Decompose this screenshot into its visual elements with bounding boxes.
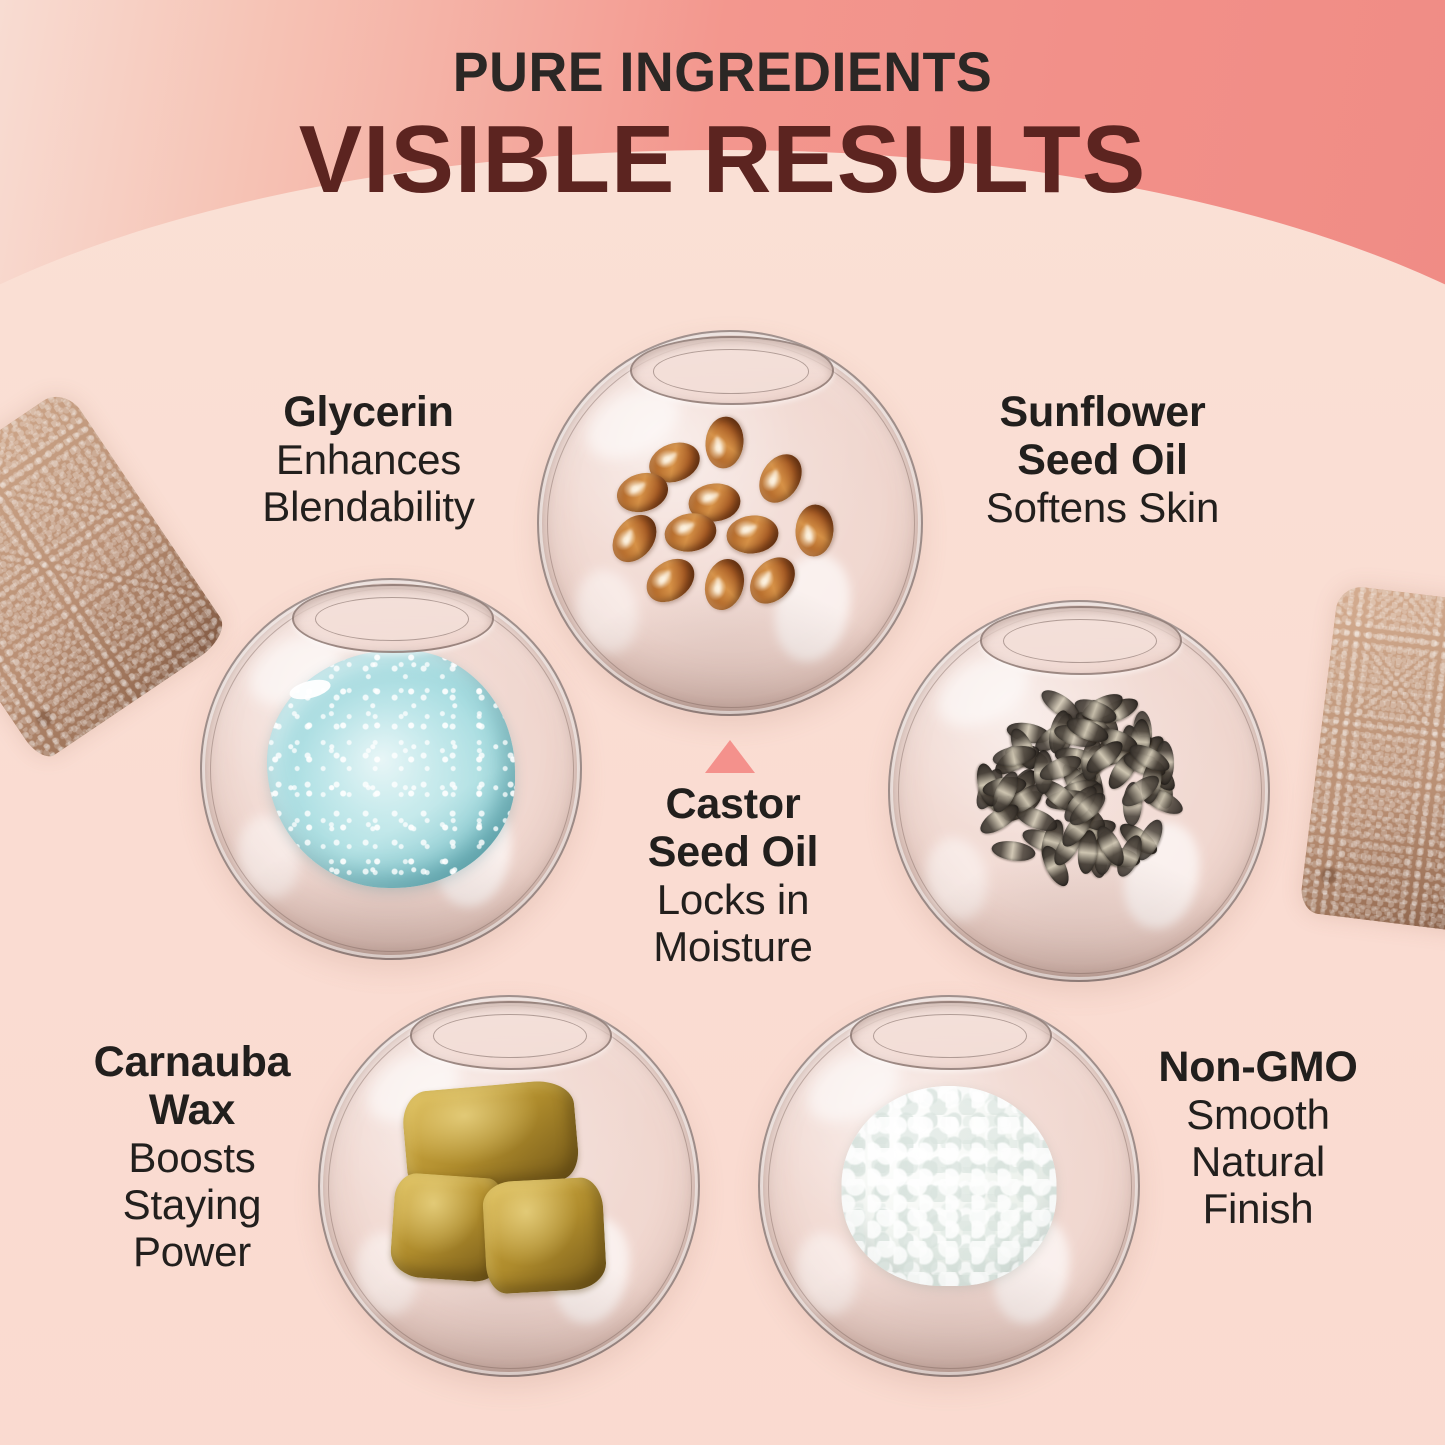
castor-seeds-visual: [623, 426, 838, 621]
label-castor-name-line-2: Seed Oil: [578, 828, 888, 876]
headline-line-1: PURE INGREDIENTS: [29, 44, 1416, 100]
ingredient-sphere-non-gmo: [758, 995, 1140, 1377]
label-carnauba-benefit-line-1: Boosts: [42, 1134, 342, 1181]
ingredient-sphere-sunflower-seed-oil: [888, 600, 1270, 982]
label-carnauba-name-line-2: Wax: [42, 1086, 342, 1134]
ingredient-sphere-castor-seed-oil: [537, 330, 923, 716]
white-powder-visual: [842, 1086, 1057, 1286]
label-sunflower-name-line-2: Seed Oil: [930, 436, 1275, 484]
label-castor-benefit-line-2: Moisture: [578, 923, 888, 970]
sunflower-seeds-visual: [962, 684, 1197, 899]
ingredient-sphere-carnauba-wax: [318, 995, 700, 1377]
label-carnauba-wax: Carnauba Wax Boosts Staying Power: [42, 1038, 342, 1275]
label-glycerin: Glycerin Enhances Blendability: [196, 388, 541, 530]
label-glycerin-benefit-line-2: Blendability: [196, 483, 541, 530]
label-castor-seed-oil: Castor Seed Oil Locks in Moisture: [578, 780, 888, 970]
glycerin-gel-visual: [267, 650, 515, 888]
carnauba-wax-visual: [397, 1084, 622, 1289]
label-carnauba-benefit-line-2: Staying: [42, 1181, 342, 1228]
castor-pointer-triangle-icon: [705, 740, 755, 773]
label-non-gmo: Non-GMO Smooth Natural Finish: [1108, 1043, 1408, 1232]
ingredient-sphere-glycerin: [200, 578, 582, 960]
label-glycerin-benefit-line-1: Enhances: [196, 436, 541, 483]
label-sunflower-benefit-line-1: Softens Skin: [930, 484, 1275, 531]
label-non-gmo-benefit-line-2: Natural: [1108, 1138, 1408, 1185]
label-non-gmo-benefit-line-1: Smooth: [1108, 1091, 1408, 1138]
label-sunflower-name-line-1: Sunflower: [930, 388, 1275, 436]
label-non-gmo-benefit-line-3: Finish: [1108, 1185, 1408, 1232]
label-glycerin-name: Glycerin: [196, 388, 541, 436]
label-carnauba-benefit-line-3: Power: [42, 1228, 342, 1275]
ingredient-infographic: PURE INGREDIENTS VISIBLE RESULTS: [0, 0, 1445, 1445]
headline-block: PURE INGREDIENTS VISIBLE RESULTS: [0, 44, 1445, 211]
label-sunflower-seed-oil: Sunflower Seed Oil Softens Skin: [930, 388, 1275, 531]
label-castor-name-line-1: Castor: [578, 780, 888, 828]
headline-line-2: VISIBLE RESULTS: [7, 110, 1438, 211]
label-non-gmo-name: Non-GMO: [1108, 1043, 1408, 1091]
label-carnauba-name-line-1: Carnauba: [42, 1038, 342, 1086]
label-castor-benefit-line-1: Locks in: [578, 876, 888, 923]
